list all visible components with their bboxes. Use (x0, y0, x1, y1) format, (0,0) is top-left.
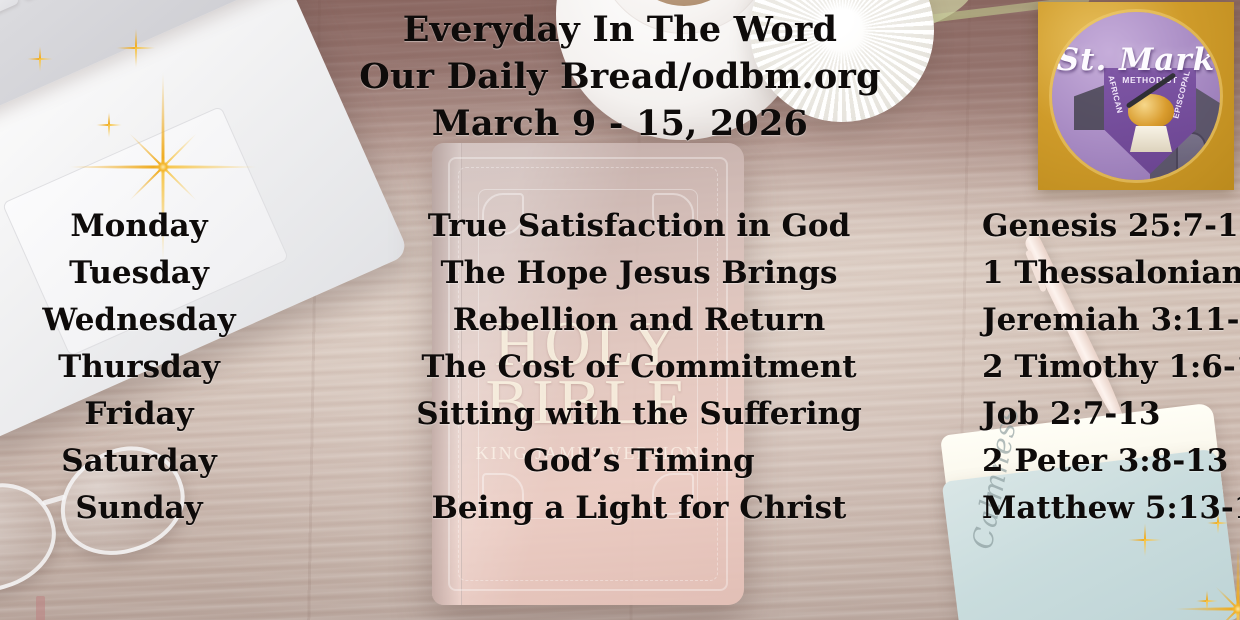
schedule-row: ThursdayThe Cost of Commitment2 Timothy … (0, 349, 1000, 396)
flyer-headline: Everyday In The Word Our Daily Bread/odb… (0, 6, 1240, 147)
weekly-reading-schedule: MondayTrue Satisfaction in GodGenesis 25… (0, 208, 1000, 537)
schedule-day: Saturday (0, 443, 278, 479)
schedule-day: Sunday (0, 490, 278, 526)
schedule-devotional-title: The Hope Jesus Brings (278, 255, 1000, 291)
schedule-devotional-title: The Cost of Commitment (278, 349, 1000, 385)
schedule-devotional-title: Being a Light for Christ (278, 490, 1000, 526)
schedule-devotional-title: True Satisfaction in God (278, 208, 1000, 244)
flyer-canvas: E R T Y U I O command S D F G H J K Z X (0, 0, 1240, 620)
schedule-row: SaturdayGod’s Timing2 Peter 3:8-13 (0, 443, 1000, 490)
headline-date-range: March 9 - 15, 2026 (0, 100, 1240, 147)
headline-line-2: Our Daily Bread/odbm.org (0, 53, 1240, 100)
schedule-day: Wednesday (0, 302, 278, 338)
schedule-devotional-title: Sitting with the Suffering (278, 396, 1000, 432)
headline-line-1: Everyday In The Word (0, 6, 1240, 53)
schedule-row: FridaySitting with the SufferingJob 2:7-… (0, 396, 1000, 443)
schedule-row: TuesdayThe Hope Jesus Brings1 Thessaloni… (0, 255, 1000, 302)
schedule-day: Thursday (0, 349, 278, 385)
schedule-row: SundayBeing a Light for ChristMatthew 5:… (0, 490, 1000, 537)
schedule-day: Friday (0, 396, 278, 432)
schedule-row: WednesdayRebellion and ReturnJeremiah 3:… (0, 302, 1000, 349)
schedule-devotional-title: Rebellion and Return (278, 302, 1000, 338)
schedule-day: Monday (0, 208, 278, 244)
schedule-day: Tuesday (0, 255, 278, 291)
schedule-row: MondayTrue Satisfaction in GodGenesis 25… (0, 208, 1000, 255)
bible-ribbon-bookmark (36, 596, 45, 620)
schedule-devotional-title: God’s Timing (278, 443, 1000, 479)
